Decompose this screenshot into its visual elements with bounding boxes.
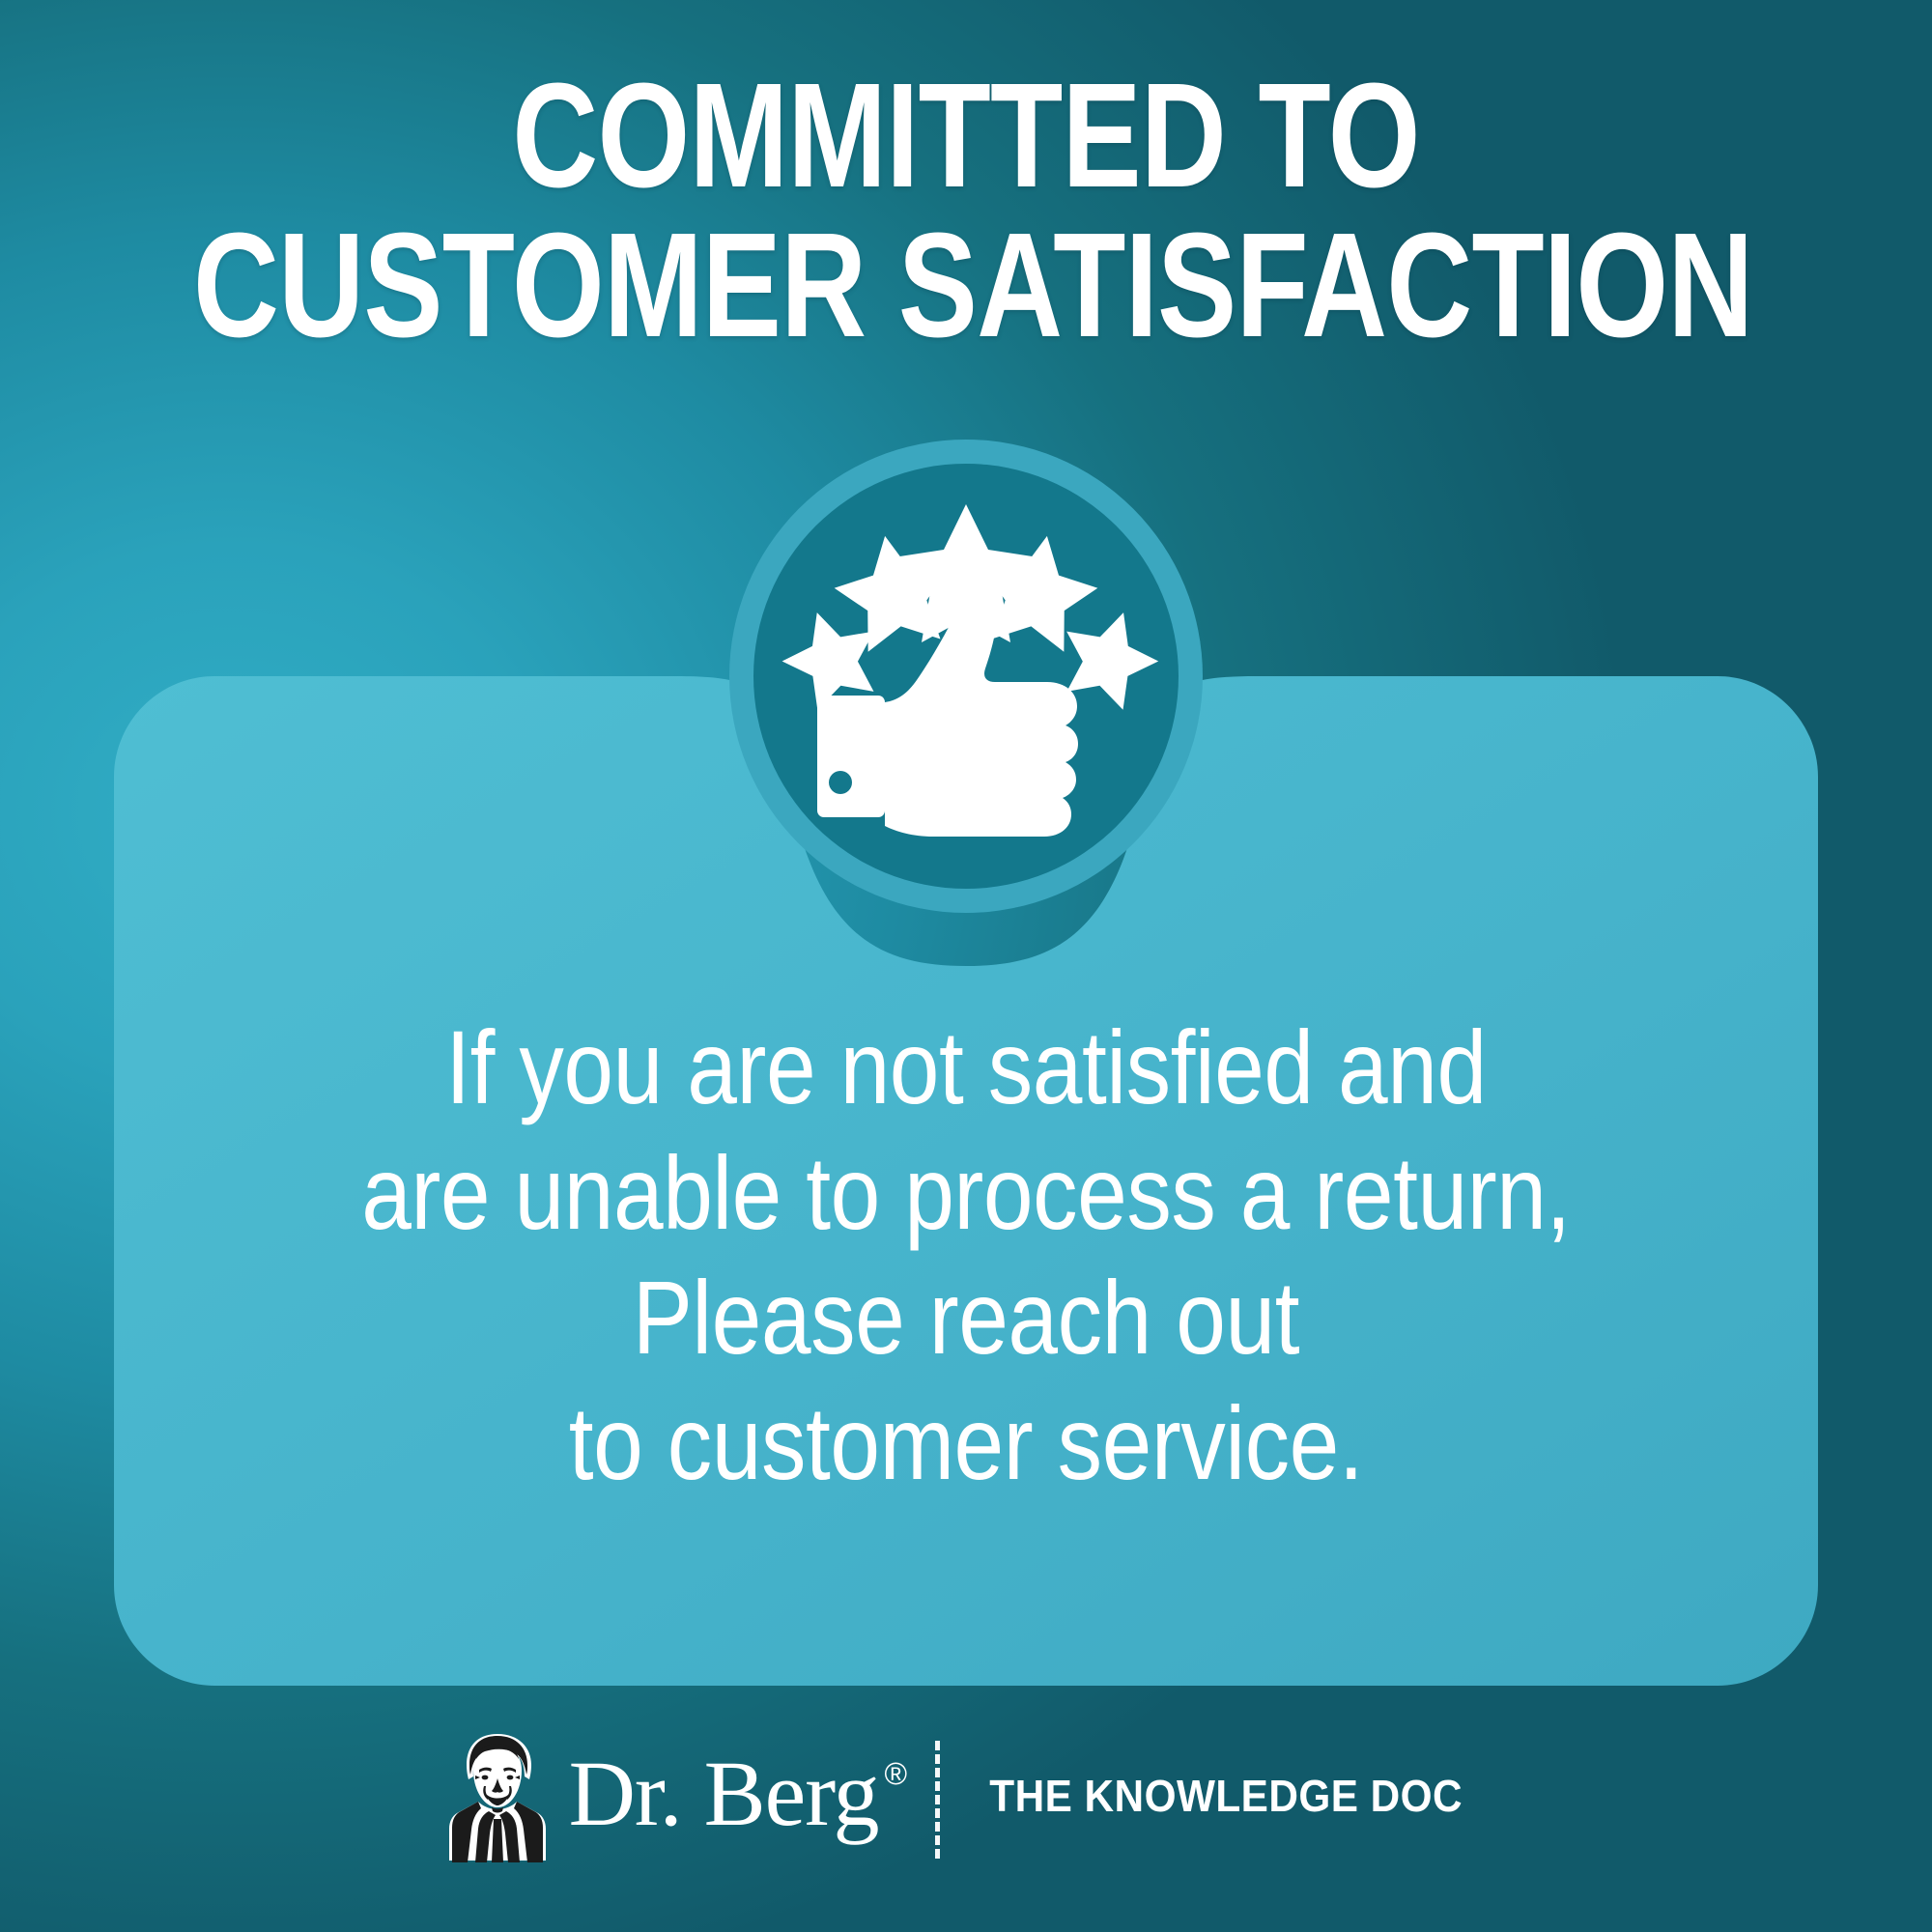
dr-berg-portrait-icon bbox=[449, 1732, 546, 1862]
registered-mark-icon: ® bbox=[884, 1756, 906, 1791]
thumbs-up-five-stars-icon bbox=[753, 464, 1179, 889]
title-line-2: CUSTOMER SATISFACTION bbox=[193, 213, 1739, 357]
body-line-4: to customer service. bbox=[235, 1380, 1697, 1506]
logo-divider bbox=[935, 1741, 940, 1859]
body-line-1: If you are not satisfied and bbox=[235, 1005, 1697, 1130]
poster-canvas: COMMITTED TO CUSTOMER SATISFACTION bbox=[0, 0, 1932, 1932]
brand-wordmark: Dr. Berg® bbox=[569, 1747, 900, 1840]
title-line-1: COMMITTED TO bbox=[193, 64, 1739, 208]
body-line-2: are unable to process a return, bbox=[235, 1130, 1697, 1256]
satisfaction-badge bbox=[729, 440, 1203, 913]
body-copy: If you are not satisfied and are unable … bbox=[116, 1005, 1816, 1505]
poster-title: COMMITTED TO CUSTOMER SATISFACTION bbox=[0, 64, 1932, 358]
brand-tagline: THE KNOWLEDGE DOC bbox=[989, 1770, 1463, 1822]
brand-footer: Dr. Berg® THE KNOWLEDGE DOC bbox=[0, 1732, 1932, 1862]
brand-name: Dr. Berg bbox=[569, 1742, 879, 1845]
body-line-3: Please reach out bbox=[235, 1255, 1697, 1380]
